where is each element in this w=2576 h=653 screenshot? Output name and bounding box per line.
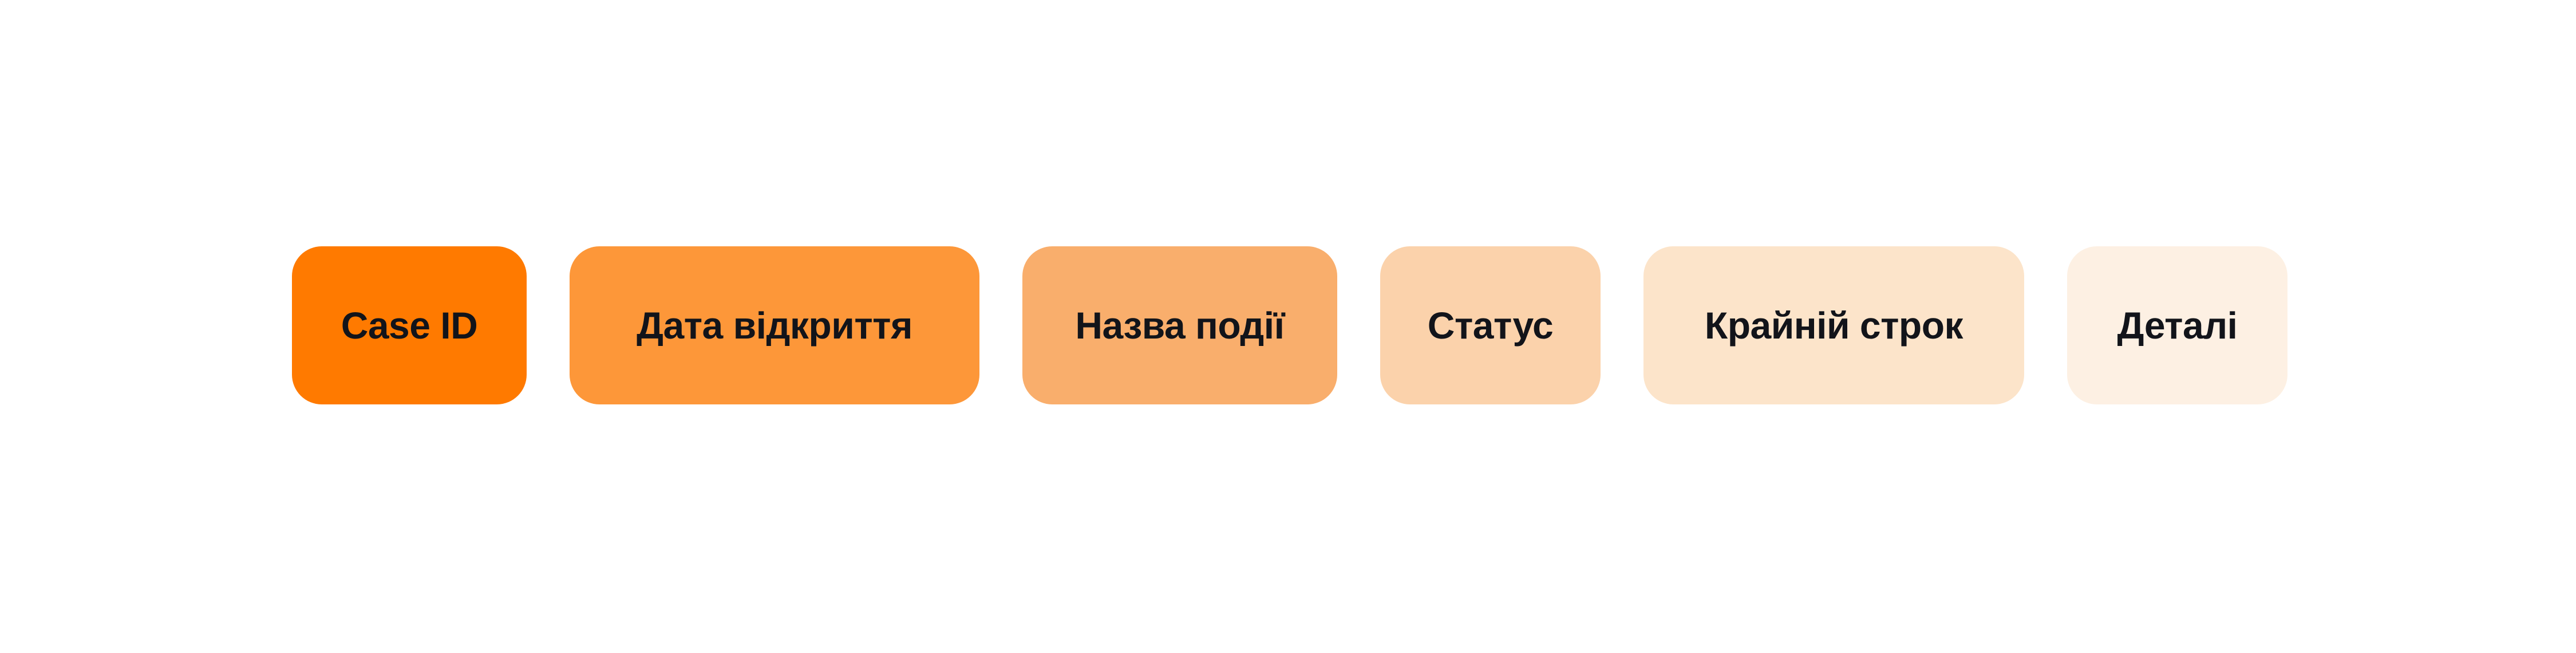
pill-details[interactable]: Деталі bbox=[2067, 246, 2287, 404]
canvas: Case ID Дата відкриття Назва події Стату… bbox=[0, 0, 2576, 653]
pill-label-status: Статус bbox=[1428, 306, 1553, 344]
pill-label-event-name: Назва події bbox=[1075, 306, 1284, 344]
pill-status[interactable]: Статус bbox=[1380, 246, 1601, 404]
pill-case-id[interactable]: Case ID bbox=[292, 246, 527, 404]
pill-label-details: Деталі bbox=[2117, 306, 2238, 344]
pill-event-name[interactable]: Назва події bbox=[1022, 246, 1337, 404]
pill-deadline[interactable]: Крайній строк bbox=[1643, 246, 2024, 404]
pill-label-open-date: Дата відкриття bbox=[637, 306, 912, 344]
pill-open-date[interactable]: Дата відкриття bbox=[570, 246, 979, 404]
column-header-pill-row: Case ID Дата відкриття Назва події Стату… bbox=[292, 246, 2287, 404]
pill-label-case-id: Case ID bbox=[341, 306, 478, 344]
pill-label-deadline: Крайній строк bbox=[1705, 306, 1963, 344]
